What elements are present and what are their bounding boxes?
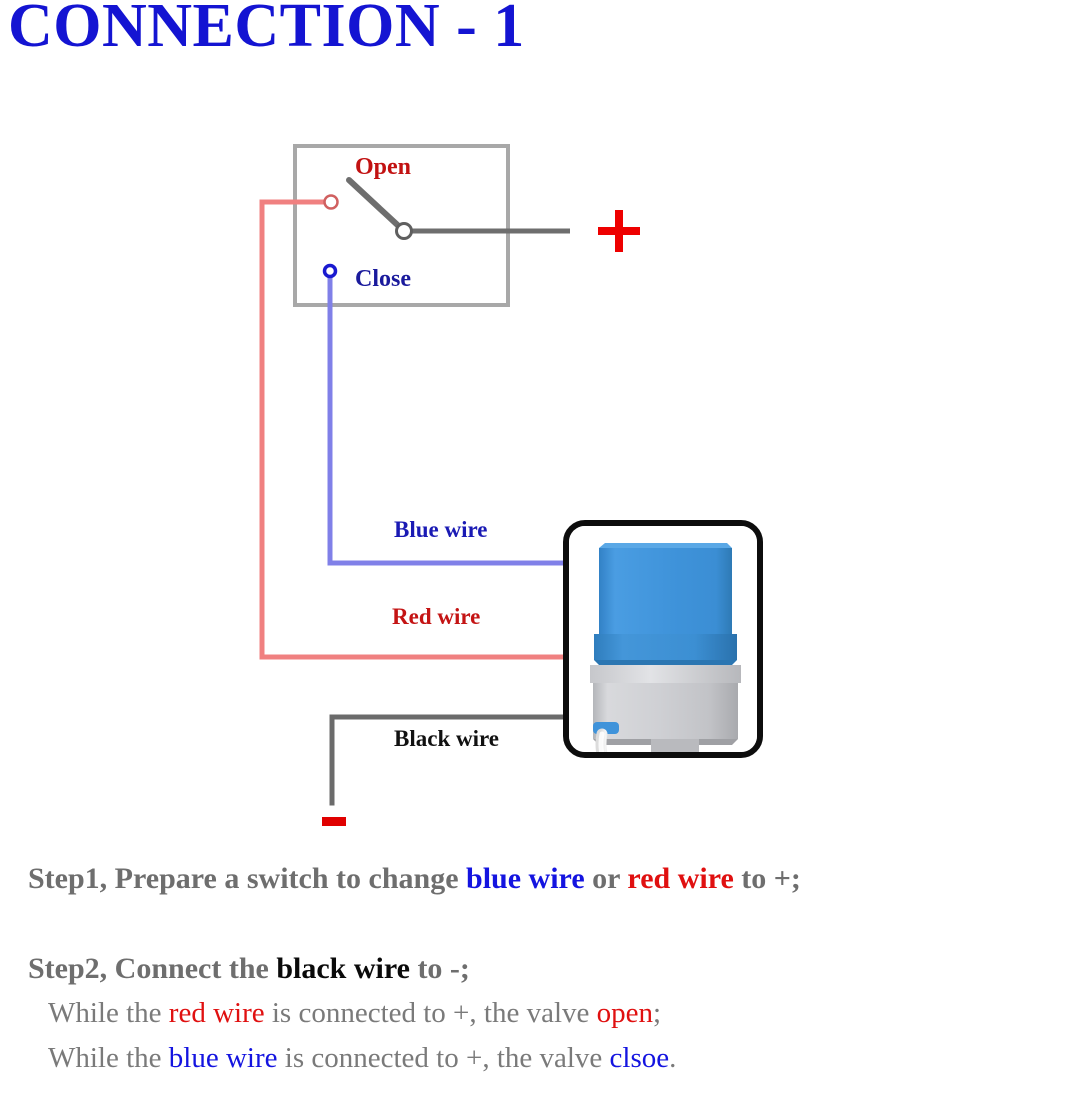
plus-vertical-bar: [615, 210, 623, 252]
step1-middle: or: [585, 862, 628, 895]
diagram-canvas: [0, 110, 1080, 855]
sub1-middle: is connected to +, the valve: [265, 997, 597, 1029]
valve-photo-frame: [563, 520, 763, 758]
valve-stem: [651, 739, 699, 752]
sub1-state-open: open: [597, 997, 653, 1029]
sub1-red-wire: red wire: [169, 997, 265, 1029]
blue-wire-label: Blue wire: [394, 518, 487, 541]
sub2-blue-wire: blue wire: [169, 1042, 278, 1074]
switch-open-label: Open: [355, 155, 411, 179]
sub1-suffix: ;: [653, 997, 661, 1029]
red-wire-label: Red wire: [392, 605, 480, 628]
red-terminal[interactable]: [325, 196, 338, 209]
black-wire-label: Black wire: [394, 727, 499, 750]
step1-red-wire: red wire: [627, 862, 733, 895]
switch-lever[interactable]: [349, 180, 570, 239]
step1-text: Step1, Prepare a switch to change blue w…: [0, 862, 801, 896]
valve-cap-skirt: [594, 634, 737, 660]
step1-suffix: to +;: [734, 862, 801, 895]
page-title: CONNECTION - 1: [8, 0, 525, 60]
wiring-diagram: Open Close Blue wire Red wire Black wire: [0, 110, 1080, 855]
step1-prefix: Step1, Prepare a switch to change: [28, 862, 466, 895]
step2-suffix: to -;: [410, 952, 470, 985]
step2-text: Step2, Connect the black wire to -;: [0, 952, 470, 986]
motorized-valve-image: [569, 526, 757, 752]
minus-polarity-icon: [322, 817, 346, 826]
switch-close-label: Close: [355, 267, 411, 291]
blue-terminal[interactable]: [325, 266, 336, 277]
plus-polarity-icon: [598, 210, 640, 252]
wire-red: [262, 202, 567, 657]
step2-substep-red: While the red wire is connected to +, th…: [0, 997, 661, 1030]
sub2-middle: is connected to +, the valve: [278, 1042, 610, 1074]
step2-black-wire: black wire: [276, 952, 410, 985]
step1-blue-wire: blue wire: [466, 862, 585, 895]
valve-collar: [590, 665, 741, 683]
sub2-suffix: .: [669, 1042, 676, 1074]
step2-substep-blue: While the blue wire is connected to +, t…: [0, 1042, 676, 1075]
sub1-prefix: While the: [48, 997, 169, 1029]
valve-blue-cap: [599, 548, 732, 634]
sub2-prefix: While the: [48, 1042, 169, 1074]
step2-prefix: Step2, Connect the: [28, 952, 276, 985]
sub2-state-close: clsoe: [610, 1042, 670, 1074]
switch-pivot: [397, 224, 412, 239]
